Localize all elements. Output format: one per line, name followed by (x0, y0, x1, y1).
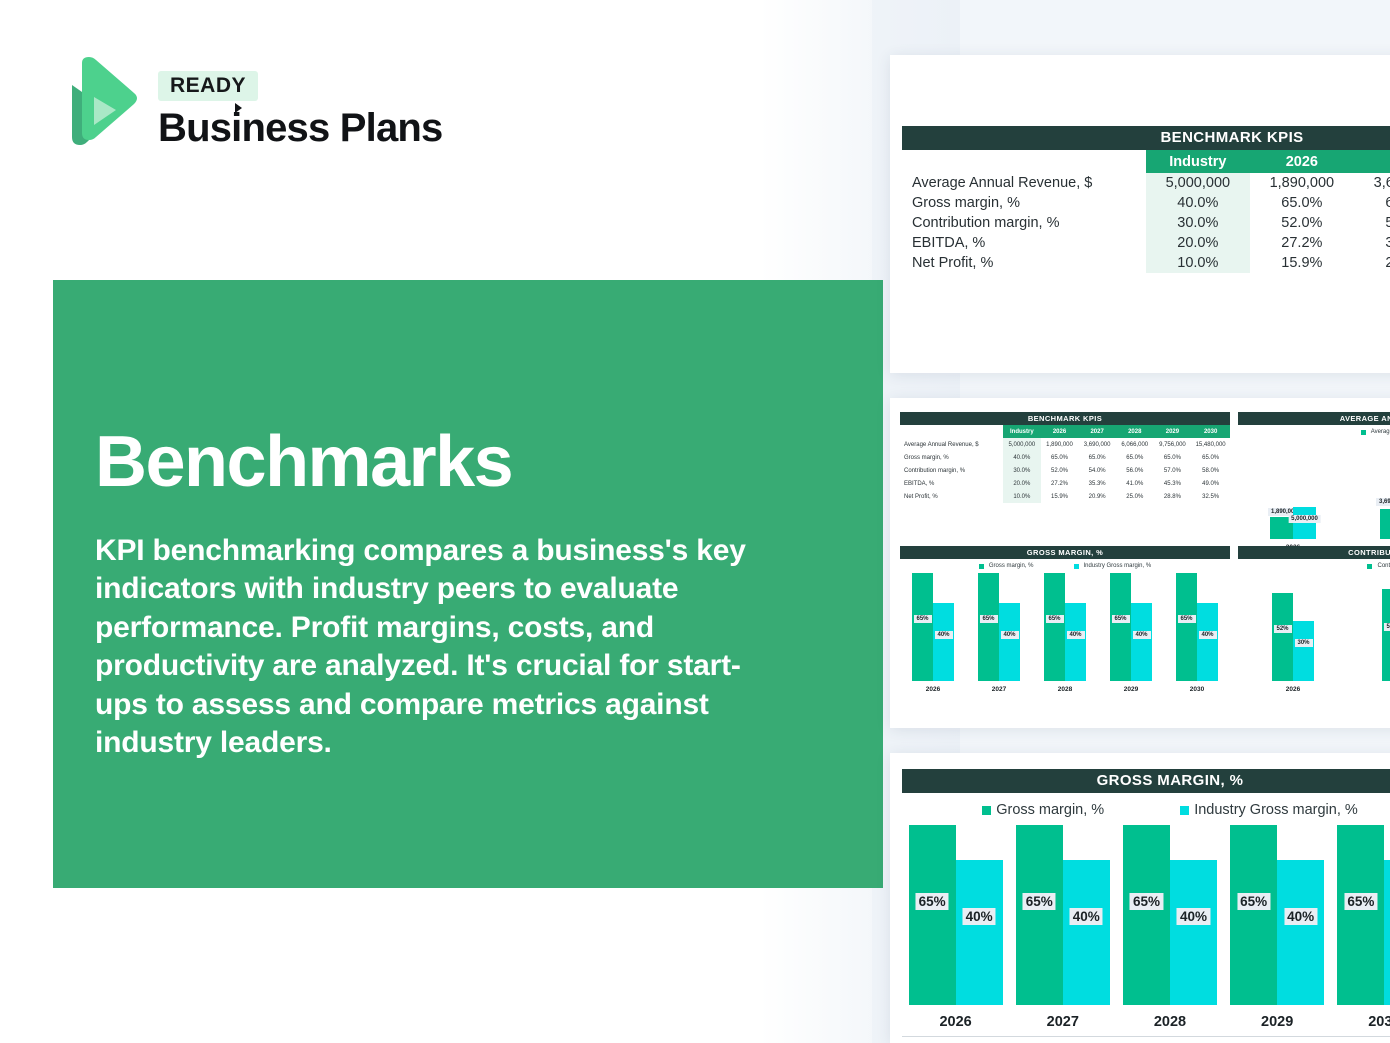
cell-2026: 65.0% (1041, 451, 1079, 464)
chart-title: AVERAGE ANNUAL REVENUE, $ (1238, 412, 1390, 425)
chart-title: GROSS MARGIN, % (900, 546, 1230, 559)
bar-group-2027: 3,690,000 5,000,000 2027 (1380, 507, 1390, 551)
bar-value-label: 40% (1198, 631, 1216, 639)
x-tick-label: 2029 (1124, 686, 1138, 693)
bar-value-label: 65% (1023, 893, 1056, 910)
row-label: Gross margin, % (902, 193, 1146, 213)
chart-title: GROSS MARGIN, % (902, 769, 1390, 793)
bar-value-label: 30% (1294, 639, 1312, 647)
cell-2027: 35.3% (1078, 477, 1116, 490)
bar-value-label: 65% (1111, 615, 1129, 623)
benchmark-kpis-table: Industry 2026 2027 2028 Average Annual R… (902, 150, 1390, 273)
bar-group-2028: 65% 40% 2028 (1044, 573, 1086, 693)
bar-company: 65% (978, 573, 999, 681)
cell-2026: 52.0% (1041, 464, 1079, 477)
cell-2027: 3,690,000 (1354, 173, 1390, 193)
table-row: Gross margin, % 40.0% 65.0% 65.0% 65.0% (902, 193, 1390, 213)
table-row: Net Profit, % 10.0% 15.9% 20.9% 25.0% (902, 253, 1390, 273)
bar-industry: 40% (956, 860, 1003, 1005)
kpi-table-title: BENCHMARK KPIS (902, 126, 1390, 150)
legend-label-company: Gross margin, % (989, 563, 1034, 569)
bar-pair: 52% 30% (1272, 593, 1314, 681)
row-label: Average Annual Revenue, $ (900, 438, 1003, 451)
cell-2026: 52.0% (1250, 213, 1354, 233)
x-tick-label: 2026 (939, 1014, 971, 1030)
cell-industry: 40.0% (1146, 193, 1250, 213)
bar-value-label: 65% (979, 615, 997, 623)
row-label: Gross margin, % (900, 451, 1003, 464)
cell-2026: 27.2% (1041, 477, 1079, 490)
metric-header (902, 150, 1146, 173)
gross-margin-mini-chart: GROSS MARGIN, % Gross margin, % Industry… (900, 546, 1230, 693)
bar-pair: 65% 40% (1230, 825, 1324, 1005)
bar-company: 65% (1230, 825, 1277, 1005)
bar-value-label: 54% (1383, 623, 1390, 631)
column-header-2028: 2028 (1116, 425, 1154, 438)
bar-pair: 65% 40% (909, 825, 1003, 1005)
cell-2028: 25.0% (1116, 490, 1154, 503)
bar-company: 54% (1382, 589, 1390, 681)
bar-industry: 40% (933, 603, 954, 681)
bar-industry: 40% (1131, 603, 1152, 681)
bar-value-label: 65% (916, 893, 949, 910)
bar-group-2030: 65% 40% 2030 (1176, 573, 1218, 693)
column-header-industry: Industry (1146, 150, 1250, 173)
bar-value-label: 40% (1066, 631, 1084, 639)
bar-value-label: 5,000,000 (1288, 515, 1321, 523)
x-axis-line (902, 1036, 1390, 1037)
bar-group-2026: 65% 40% 2026 (912, 573, 954, 693)
contribution-margin-chart: CONTRIBUTION MARGIN, % Contribution marg… (1238, 546, 1390, 693)
mini-benchmark-kpis-table: Industry 2026 2027 2028 2029 2030 Averag… (900, 425, 1230, 503)
bar-pair: 54% 30% (1382, 589, 1390, 681)
cell-2027: 65.0% (1078, 451, 1116, 464)
bar-group-2029: 65% 40% 2029 (1230, 825, 1324, 1030)
column-header-2026: 2026 (1250, 150, 1354, 173)
chart-legend: Average Annual Revenue, $ (1238, 429, 1390, 435)
chart-legend: Contribution margin, % (1238, 563, 1390, 569)
cell-2026: 65.0% (1250, 193, 1354, 213)
bar-company: 65% (909, 825, 956, 1005)
bar-pair: 65% 40% (912, 573, 954, 681)
page-description: KPI benchmarking compares a business's k… (95, 532, 765, 762)
bar-value-label: 40% (1177, 908, 1210, 925)
chart-plot-area: 52% 30% 2026 54% 30% 2027 56% 30% (1238, 575, 1390, 693)
bar-industry: 40% (1170, 860, 1217, 1005)
benchmark-kpis-card: BENCHMARK KPIS Industry 2026 2027 2028 A… (890, 55, 1390, 373)
cell-2026: 15.9% (1250, 253, 1354, 273)
bar-industry: 40% (1277, 860, 1324, 1005)
bar-value-label: 65% (1237, 893, 1270, 910)
brand-accent-triangle-icon (235, 103, 242, 113)
bar-pair: 65% 40% (978, 573, 1020, 681)
legend-swatch-industry (1180, 806, 1189, 815)
bar-company: 65% (1110, 573, 1131, 681)
x-tick-label: 2030 (1190, 686, 1204, 693)
bar-pair: 65% 40% (1044, 573, 1086, 681)
legend-swatch-company (982, 806, 991, 815)
bar-pair: 65% 40% (1337, 825, 1390, 1005)
bar-pair: 1,890,000 5,000,000 (1270, 507, 1316, 539)
chart-legend: Gross margin, % Industry Gross margin, % (900, 563, 1230, 569)
brand-name-text: Business Plans (158, 106, 442, 150)
cell-industry: 30.0% (1003, 464, 1041, 477)
cell-2028: 65.0% (1116, 451, 1154, 464)
table-row: EBITDA, % 20.0% 27.2% 35.3% 41.0% 45.3% … (900, 477, 1230, 490)
bar-value-label: 40% (1000, 631, 1018, 639)
column-header-2026: 2026 (1041, 425, 1079, 438)
bar-group-2027: 65% 40% 2027 (978, 573, 1020, 693)
cell-2027: 54.0% (1078, 464, 1116, 477)
cell-industry: 5,000,000 (1146, 173, 1250, 193)
cell-industry: 40.0% (1003, 451, 1041, 464)
table-row: Gross margin, % 40.0% 65.0% 65.0% 65.0% … (900, 451, 1230, 464)
x-tick-label: 2029 (1261, 1014, 1293, 1030)
bar-industry: 40% (999, 603, 1020, 681)
x-tick-label: 2030 (1368, 1014, 1390, 1030)
bar-value-label: 65% (913, 615, 931, 623)
cell-2029: 65.0% (1154, 451, 1192, 464)
cell-industry: 30.0% (1146, 213, 1250, 233)
bar-value-label: 65% (1344, 893, 1377, 910)
bar-pair: 3,690,000 5,000,000 (1380, 507, 1390, 539)
legend-item-company: Gross margin, % (982, 802, 1104, 818)
chart-plot-area: 1,890,000 5,000,000 2026 3,690,000 (1238, 439, 1390, 551)
legend-label-company: Gross margin, % (996, 802, 1104, 818)
cell-2030: 58.0% (1191, 464, 1230, 477)
legend-item-industry: Industry Gross margin, % (1074, 563, 1152, 569)
column-header-2027: 2027 (1078, 425, 1116, 438)
bar-industry: 5,000,000 (1293, 507, 1316, 539)
legend-label-company: Contribution margin, % (1377, 563, 1390, 569)
bar-value-label: 65% (1045, 615, 1063, 623)
bar-pair: 65% 40% (1110, 573, 1152, 681)
table-row: Average Annual Revenue, $ 5,000,000 1,89… (902, 173, 1390, 193)
column-header-2029: 2029 (1154, 425, 1192, 438)
slide-canvas: READY Business Plans Benchmarks KPI benc… (0, 0, 1390, 1043)
bar-group-2026: 52% 30% 2026 (1272, 593, 1314, 693)
legend-label-company: Average Annual Revenue, $ (1371, 429, 1390, 435)
bar-group-2026: 65% 40% 2026 (909, 825, 1003, 1030)
metric-header (900, 425, 1003, 438)
legend-swatch-company (1367, 564, 1372, 569)
hero-panel: Benchmarks KPI benchmarking compares a b… (53, 280, 883, 888)
cell-2029: 9,756,000 (1154, 438, 1192, 451)
cell-2026: 1,890,000 (1041, 438, 1079, 451)
legend-item-company: Contribution margin, % (1367, 563, 1390, 569)
legend-swatch-company (979, 564, 984, 569)
cell-2030: 32.5% (1191, 490, 1230, 503)
cell-2029: 28.8% (1154, 490, 1192, 503)
table-row: Net Profit, % 10.0% 15.9% 20.9% 25.0% 28… (900, 490, 1230, 503)
bar-industry: 40% (1197, 603, 1218, 681)
cell-2027: 3,690,000 (1078, 438, 1116, 451)
bar-industry: 40% (1063, 860, 1110, 1005)
bar-industry: 40% (1065, 603, 1086, 681)
bar-company: 65% (1123, 825, 1170, 1005)
benchmark-kpis-table-widget: BENCHMARK KPIS Industry 2026 2027 2028 A… (902, 126, 1390, 273)
column-header-2027: 2027 (1354, 150, 1390, 173)
cell-2029: 45.3% (1154, 477, 1192, 490)
x-tick-label: 2027 (992, 686, 1006, 693)
bar-company: 65% (1176, 573, 1197, 681)
cell-2030: 65.0% (1191, 451, 1230, 464)
cell-2028: 56.0% (1116, 464, 1154, 477)
cell-2027: 20.9% (1354, 253, 1390, 273)
cell-industry: 20.0% (1146, 233, 1250, 253)
average-annual-revenue-chart: AVERAGE ANNUAL REVENUE, $ Average Annual… (1238, 412, 1390, 551)
legend-item-industry: Industry Gross margin, % (1180, 802, 1358, 818)
bar-pair: 65% 40% (1176, 573, 1218, 681)
column-header-2030: 2030 (1191, 425, 1230, 438)
x-tick-label: 2027 (1047, 1014, 1079, 1030)
bar-company: 65% (1044, 573, 1065, 681)
bar-group-2027: 65% 40% 2027 (1016, 825, 1110, 1030)
cell-2028: 6,066,000 (1116, 438, 1154, 451)
table-header-row: Industry 2026 2027 2028 2029 2030 (900, 425, 1230, 438)
cell-2026: 15.9% (1041, 490, 1079, 503)
bar-value-label: 65% (1130, 893, 1163, 910)
bar-value-label: 40% (1132, 631, 1150, 639)
cell-2026: 1,890,000 (1250, 173, 1354, 193)
brand-name: Business Plans (158, 108, 442, 148)
table-header-row: Industry 2026 2027 2028 (902, 150, 1390, 173)
page-title: Benchmarks (95, 426, 512, 498)
bar-company: 52% (1272, 593, 1293, 681)
x-tick-label: 2026 (926, 686, 940, 693)
row-label: Contribution margin, % (900, 464, 1003, 477)
legend-swatch-industry (1074, 564, 1079, 569)
chart-legend: Gross margin, % Industry Gross margin, % (902, 802, 1390, 818)
table-row: Contribution margin, % 30.0% 52.0% 54.0%… (900, 464, 1230, 477)
brand-logo: READY Business Plans (60, 55, 442, 148)
cell-2027: 20.9% (1078, 490, 1116, 503)
mini-kpi-table-title: BENCHMARK KPIS (900, 412, 1230, 425)
gross-margin-chart: GROSS MARGIN, % Gross margin, % Industry… (902, 769, 1390, 1037)
table-row: EBITDA, % 20.0% 27.2% 35.3% 41.0% (902, 233, 1390, 253)
bar-company: 65% (1016, 825, 1063, 1005)
row-label: Net Profit, % (900, 490, 1003, 503)
cell-industry: 10.0% (1146, 253, 1250, 273)
table-row: Contribution margin, % 30.0% 52.0% 54.0%… (902, 213, 1390, 233)
cell-2027: 35.3% (1354, 233, 1390, 253)
bar-group-2028: 65% 40% 2028 (1123, 825, 1217, 1030)
legend-label-industry: Industry Gross margin, % (1194, 802, 1358, 818)
bar-value-label: 40% (1284, 908, 1317, 925)
bar-value-label: 52% (1273, 625, 1291, 633)
play-triangle-logo-icon (60, 55, 142, 147)
cell-2026: 27.2% (1250, 233, 1354, 253)
bar-industry: 30% (1293, 621, 1314, 681)
row-label: Net Profit, % (902, 253, 1146, 273)
column-header-industry: Industry (1003, 425, 1041, 438)
x-tick-label: 2028 (1154, 1014, 1186, 1030)
bar-group-2030: 65% 40% 2030 (1337, 825, 1390, 1030)
cell-2029: 57.0% (1154, 464, 1192, 477)
x-tick-label: 2028 (1058, 686, 1072, 693)
legend-swatch-company (1361, 430, 1366, 435)
bar-value-label: 40% (963, 908, 996, 925)
legend-item-company: Average Annual Revenue, $ (1361, 429, 1390, 435)
cell-2030: 49.0% (1191, 477, 1230, 490)
gross-margin-card: GROSS MARGIN, % Gross margin, % Industry… (890, 753, 1390, 1043)
chart-title: CONTRIBUTION MARGIN, % (1238, 546, 1390, 559)
cell-2030: 15,480,000 (1191, 438, 1230, 451)
bar-group-2026: 1,890,000 5,000,000 2026 (1270, 507, 1316, 551)
bar-company: 3,690,000 (1380, 509, 1390, 539)
cell-industry: 20.0% (1003, 477, 1041, 490)
bar-pair: 65% 40% (1123, 825, 1217, 1005)
legend-label-industry: Industry Gross margin, % (1084, 563, 1152, 569)
dashboard-overview-card: BENCHMARK KPIS Industry 2026 2027 2028 2… (890, 398, 1390, 728)
row-label: EBITDA, % (900, 477, 1003, 490)
bar-value-label: 3,690,000 (1376, 498, 1390, 506)
mini-benchmark-kpis-widget: BENCHMARK KPIS Industry 2026 2027 2028 2… (900, 412, 1230, 503)
bar-company: 65% (1337, 825, 1384, 1005)
x-tick-label: 2026 (1286, 686, 1300, 693)
bar-value-label: 40% (934, 631, 952, 639)
bar-group-2029: 65% 40% 2029 (1110, 573, 1152, 693)
row-label: Contribution margin, % (902, 213, 1146, 233)
bar-company: 65% (912, 573, 933, 681)
bar-pair: 65% 40% (1016, 825, 1110, 1005)
bar-industry: 40% (1384, 860, 1390, 1005)
bar-value-label: 40% (1070, 908, 1103, 925)
brand-wordmark: READY Business Plans (158, 55, 442, 148)
cell-2028: 41.0% (1116, 477, 1154, 490)
cell-2027: 54.0% (1354, 213, 1390, 233)
cell-2027: 65.0% (1354, 193, 1390, 213)
cell-industry: 5,000,000 (1003, 438, 1041, 451)
row-label: Average Annual Revenue, $ (902, 173, 1146, 193)
legend-item-company: Gross margin, % (979, 563, 1034, 569)
table-row: Average Annual Revenue, $ 5,000,000 1,89… (900, 438, 1230, 451)
row-label: EBITDA, % (902, 233, 1146, 253)
ready-badge: READY (158, 71, 258, 101)
bar-group-2027: 54% 30% 2027 (1382, 589, 1390, 693)
chart-plot-area: 65% 40% 2026 65% 40% 2027 65% 40% (902, 834, 1390, 1030)
bar-value-label: 65% (1177, 615, 1195, 623)
chart-plot-area: 65% 40% 2026 65% 40% 2027 65% 40% (900, 575, 1230, 693)
cell-industry: 10.0% (1003, 490, 1041, 503)
